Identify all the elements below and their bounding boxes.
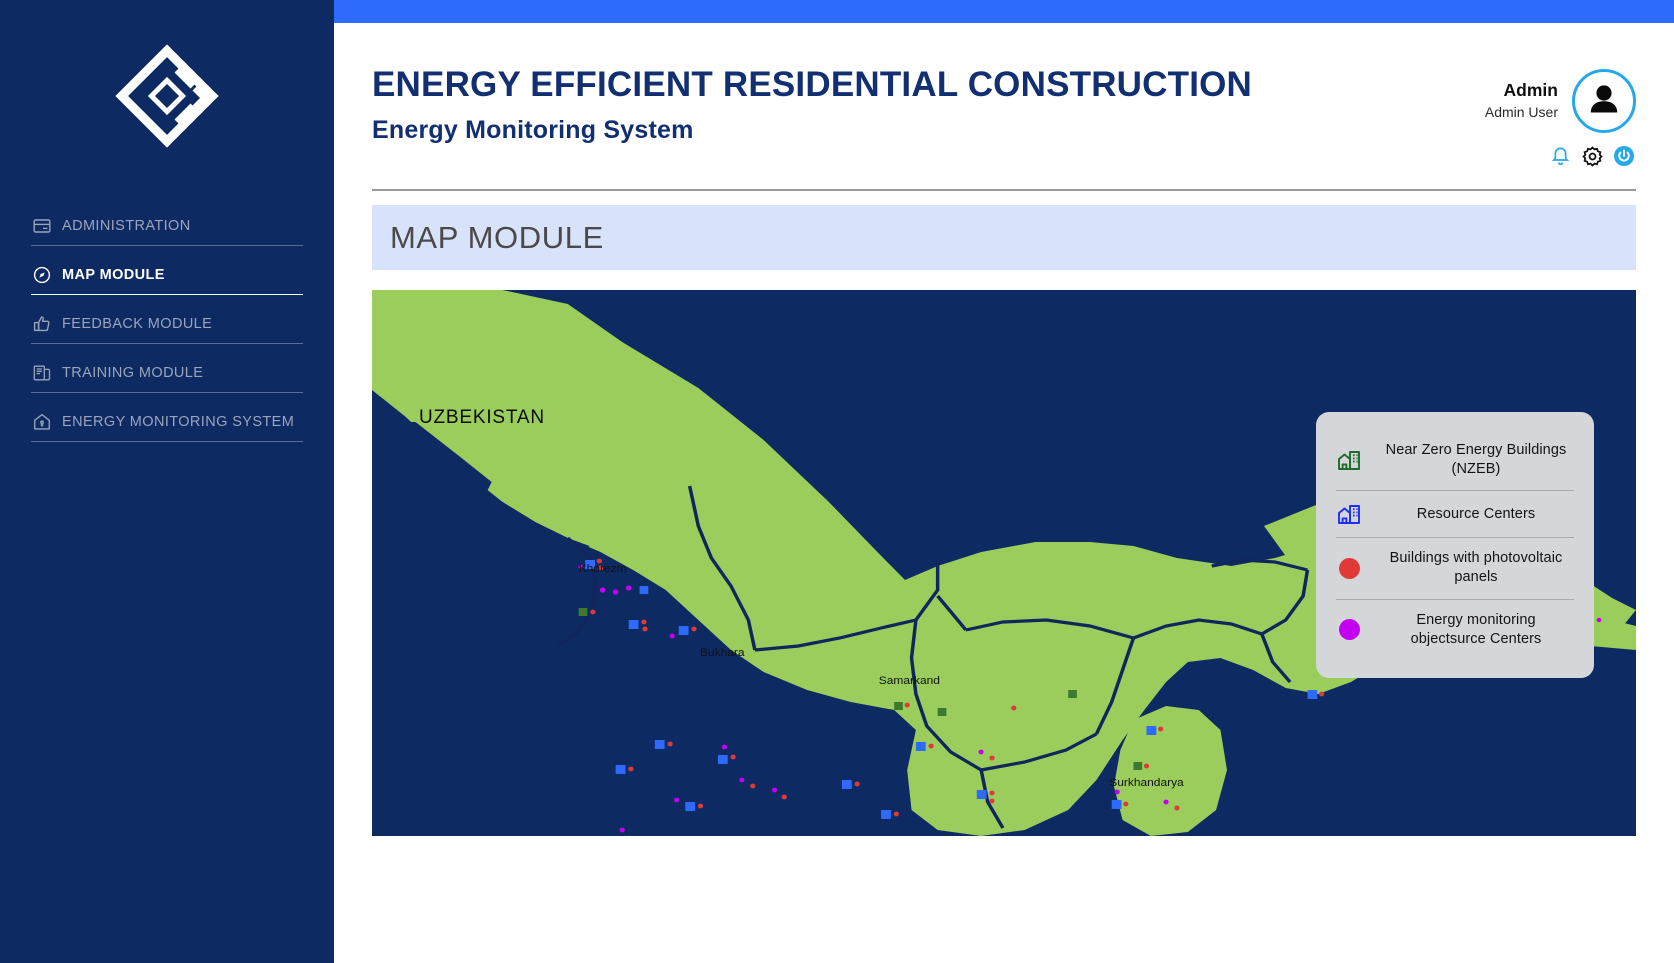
sidebar-item-label: MAP MODULE <box>62 267 165 283</box>
gear-icon[interactable] <box>1582 146 1603 172</box>
avatar[interactable] <box>1572 69 1636 133</box>
diamond-logo <box>115 44 219 153</box>
sidebar-item-training-module[interactable]: TRAINING MODULE <box>31 358 303 393</box>
user-text: Admin Admin User <box>1485 69 1558 120</box>
sidebar-item-energy-monitoring-system[interactable]: ENERGY MONITORING SYSTEM <box>31 407 303 442</box>
legend-item-resource-centers[interactable]: Resource Centers <box>1336 491 1574 538</box>
magenta-dot-icon <box>1336 619 1362 640</box>
legend-item-label: Resource Centers <box>1378 505 1574 524</box>
main-content: ENERGY EFFICIENT RESIDENTIAL CONSTRUCTIO… <box>334 23 1674 963</box>
sidebar: ADMINISTRATION MAP MODULE <box>0 0 334 963</box>
thumbs-up-icon <box>33 315 51 333</box>
user-avatar-icon <box>1584 79 1624 124</box>
region-label: Surkhandarya <box>1109 777 1184 788</box>
region-label: Samarkand <box>879 675 940 686</box>
panel-icon <box>33 217 51 235</box>
red-dot-icon <box>1336 558 1362 579</box>
map-legend: Near Zero Energy Buildings (NZEB) Resour… <box>1316 412 1594 678</box>
region-label: Bukhara <box>700 647 745 658</box>
logo-wrap <box>0 23 334 173</box>
bell-icon[interactable] <box>1550 145 1571 172</box>
compass-icon <box>33 266 51 284</box>
legend-item-nzeb[interactable]: Near Zero Energy Buildings (NZEB) <box>1336 430 1574 491</box>
sidebar-item-map-module[interactable]: MAP MODULE <box>31 260 303 295</box>
sidebar-nav: ADMINISTRATION MAP MODULE <box>0 211 334 442</box>
map-panel[interactable]: Khorezm Bukhara Samarkand Fergana Surkha… <box>372 290 1636 836</box>
book-icon <box>33 364 51 382</box>
sidebar-item-label: FEEDBACK MODULE <box>62 316 212 332</box>
page-subtitle: Energy Monitoring System <box>372 116 1636 145</box>
sidebar-item-label: ENERGY MONITORING SYSTEM <box>62 414 294 430</box>
module-banner-title: MAP MODULE <box>390 220 604 256</box>
header-action-icons <box>1550 145 1634 172</box>
building-green-icon <box>1336 448 1362 472</box>
sidebar-item-label: TRAINING MODULE <box>62 365 203 381</box>
user-block: Admin Admin User <box>1485 69 1636 133</box>
sidebar-item-label: ADMINISTRATION <box>62 218 191 234</box>
country-label: UZBEKISTAN <box>419 407 545 429</box>
building-blue-icon <box>1336 502 1362 526</box>
page-root: ADMINISTRATION MAP MODULE <box>0 0 1674 963</box>
legend-item-photovoltaic[interactable]: Buildings with photovoltaic panels <box>1336 538 1574 599</box>
page-title: ENERGY EFFICIENT RESIDENTIAL CONSTRUCTIO… <box>372 65 1636 105</box>
page-header: ENERGY EFFICIENT RESIDENTIAL CONSTRUCTIO… <box>372 23 1636 191</box>
user-name: Admin <box>1485 80 1558 101</box>
user-role: Admin User <box>1485 104 1558 120</box>
house-icon <box>33 413 51 431</box>
power-icon[interactable] <box>1614 146 1634 171</box>
legend-item-label: Near Zero Energy Buildings (NZEB) <box>1378 441 1574 479</box>
legend-item-monitoring[interactable]: Energy monitoring objectsurce Centers <box>1336 600 1574 660</box>
sidebar-item-feedback-module[interactable]: FEEDBACK MODULE <box>31 309 303 344</box>
legend-item-label: Buildings with photovoltaic panels <box>1378 549 1574 587</box>
sidebar-item-administration[interactable]: ADMINISTRATION <box>31 211 303 246</box>
legend-item-label: Energy monitoring objectsurce Centers <box>1378 611 1574 649</box>
region-label: Khorezm <box>579 563 627 574</box>
module-banner: MAP MODULE <box>372 205 1636 270</box>
